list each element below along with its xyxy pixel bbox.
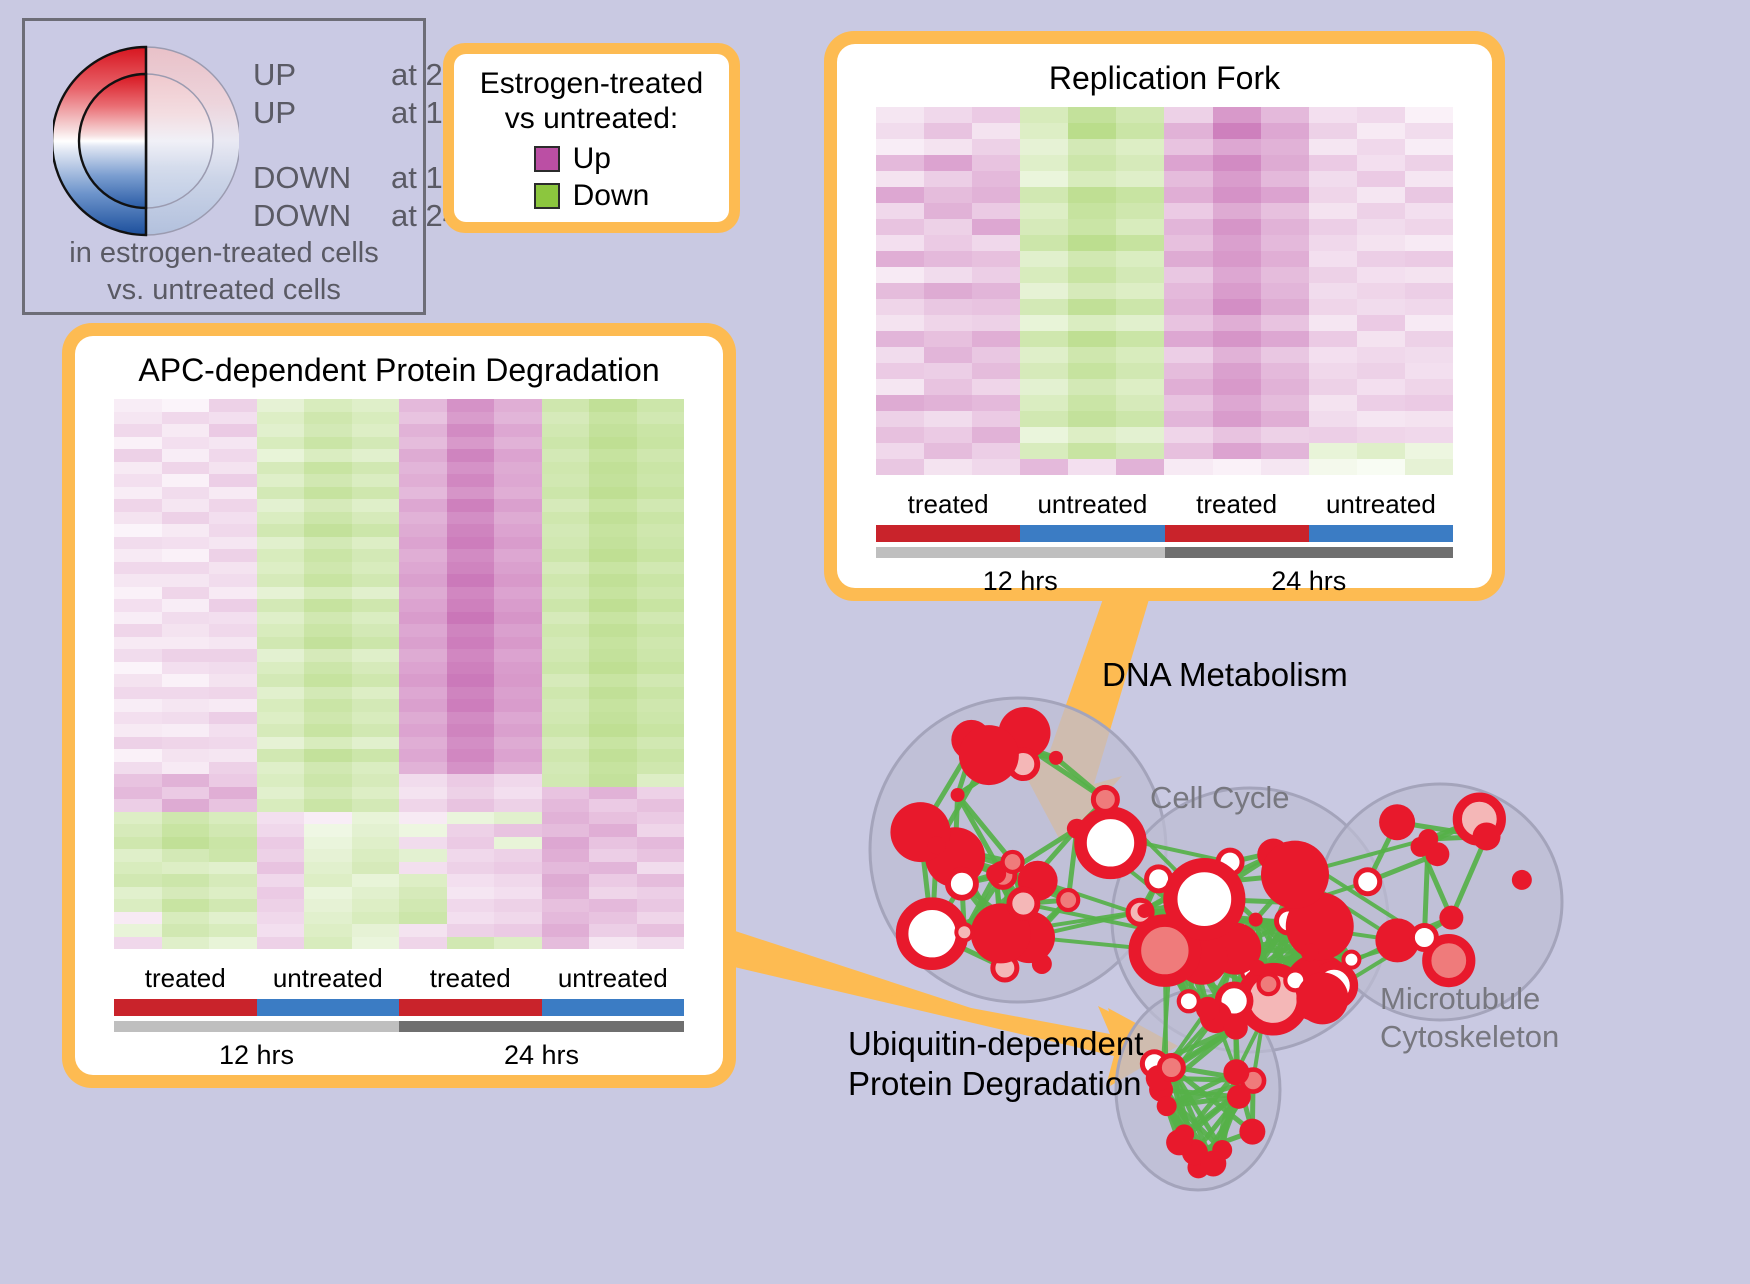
heatmap-cell [494, 824, 542, 837]
apc-bar-untreated-12 [257, 999, 400, 1016]
heatmap-cell [1213, 187, 1261, 203]
heatmap-cell [924, 107, 972, 123]
heatmap-cell [209, 449, 257, 462]
heatmap-cell [972, 315, 1020, 331]
heatmap-cell [1116, 267, 1164, 283]
heatmap-cell [162, 649, 210, 662]
heatmap-cell [447, 712, 495, 725]
heatmap-cell [1020, 395, 1068, 411]
heatmap-cell [352, 837, 400, 850]
heatmap-cell [1213, 139, 1261, 155]
heatmap-cell [399, 787, 447, 800]
heatmap-cell [447, 462, 495, 475]
legend-header-line1: Estrogen-treated [480, 66, 703, 101]
heatmap-cell [352, 774, 400, 787]
heatmap-cell [1261, 363, 1309, 379]
heatmap-cell [162, 424, 210, 437]
network-node [1093, 787, 1117, 811]
heatmap-cell [257, 612, 305, 625]
heatmap-cell [114, 474, 162, 487]
heatmap-cell [304, 824, 352, 837]
heatmap-cell [114, 724, 162, 737]
heatmap-cell [114, 662, 162, 675]
heatmap-cell [494, 649, 542, 662]
heatmap-cell [1261, 123, 1309, 139]
heatmap-cell [1357, 363, 1405, 379]
heatmap-cell [637, 549, 685, 562]
heatmap-cell [399, 624, 447, 637]
heatmap-cell [209, 824, 257, 837]
rf-time-0: 12 hrs [876, 566, 1165, 597]
heatmap-cell [162, 824, 210, 837]
heatmap-cell [1405, 187, 1453, 203]
panel-apc-degradation: APC-dependent Protein Degradation treate… [62, 323, 736, 1088]
heatmap-cell [1116, 315, 1164, 331]
heatmap-cell [1357, 123, 1405, 139]
heatmap-cell [589, 874, 637, 887]
heatmap-cell [1068, 315, 1116, 331]
heatmap-apc-degradation [114, 399, 684, 949]
network-node [1049, 751, 1063, 765]
heatmap-cell [1405, 395, 1453, 411]
heatmap-cell [1164, 251, 1212, 267]
heatmap-cell [162, 499, 210, 512]
heatmap-cell [352, 787, 400, 800]
heatmap-cell [1357, 459, 1405, 475]
heatmap-cell [399, 687, 447, 700]
mt-line2: Cytoskeleton [1380, 1018, 1559, 1056]
heatmap-cell [162, 474, 210, 487]
heatmap-cell [1405, 171, 1453, 187]
heatmap-cell [162, 512, 210, 525]
heatmap-cell [1116, 411, 1164, 427]
heatmap-cell [494, 687, 542, 700]
heatmap-cell [352, 649, 400, 662]
heatmap-cell [304, 799, 352, 812]
heatmap-cell [972, 299, 1020, 315]
legend-item-down: Down [534, 177, 650, 214]
heatmap-cell [924, 395, 972, 411]
heatmap-cell [924, 171, 972, 187]
heatmap-cell [352, 874, 400, 887]
heatmap-cell [542, 562, 590, 575]
heatmap-cell [1020, 411, 1068, 427]
heatmap-cell [352, 812, 400, 825]
heatmap-cell [494, 624, 542, 637]
heatmap-cell [304, 774, 352, 787]
heatmap-cell [399, 712, 447, 725]
heatmap-cell [304, 687, 352, 700]
heatmap-cell [257, 762, 305, 775]
heatmap-cell [924, 315, 972, 331]
heatmap-cell [1357, 331, 1405, 347]
heatmap-cell [1261, 443, 1309, 459]
heatmap-cell [972, 411, 1020, 427]
up-down-color-wheel [53, 43, 239, 239]
heatmap-cell [1164, 459, 1212, 475]
heatmap-cell [542, 774, 590, 787]
heatmap-cell [1020, 283, 1068, 299]
heatmap-cell [209, 499, 257, 512]
heatmap-cell [542, 937, 590, 950]
heatmap-cell [352, 912, 400, 925]
heatmap-cell [209, 837, 257, 850]
heatmap-cell [637, 512, 685, 525]
rf-time-labels: 12 hrs 24 hrs [876, 566, 1453, 597]
heatmap-cell [924, 219, 972, 235]
network-node [1157, 1096, 1177, 1116]
legend-header-line2: vs untreated: [480, 101, 703, 136]
heatmap-cell [447, 487, 495, 500]
heatmap-cell [447, 524, 495, 537]
heatmap-cell [542, 674, 590, 687]
heatmap-cell [447, 637, 495, 650]
heatmap-cell [304, 649, 352, 662]
heatmap-cell [924, 443, 972, 459]
heatmap-cell [114, 549, 162, 562]
heatmap-cell [162, 899, 210, 912]
heatmap-cell [1116, 299, 1164, 315]
heatmap-cell [162, 937, 210, 950]
heatmap-replication-fork [876, 107, 1453, 475]
heatmap-cell [162, 787, 210, 800]
heatmap-cell [542, 599, 590, 612]
heatmap-cell [1357, 443, 1405, 459]
heatmap-cell [494, 612, 542, 625]
heatmap-cell [637, 599, 685, 612]
heatmap-cell [924, 203, 972, 219]
heatmap-cell [447, 474, 495, 487]
heatmap-cell [637, 887, 685, 900]
heatmap-cell [399, 749, 447, 762]
heatmap-cell [876, 171, 924, 187]
heatmap-cell [542, 874, 590, 887]
heatmap-cell [589, 862, 637, 875]
heatmap-cell [1261, 235, 1309, 251]
heatmap-cell [542, 462, 590, 475]
heatmap-cell [637, 699, 685, 712]
heatmap-cell [542, 699, 590, 712]
heatmap-cell [1261, 219, 1309, 235]
heatmap-cell [257, 487, 305, 500]
heatmap-cell [1357, 219, 1405, 235]
heatmap-cell [589, 399, 637, 412]
heatmap-cell [1357, 155, 1405, 171]
heatmap-cell [1213, 459, 1261, 475]
heatmap-cell [1068, 411, 1116, 427]
heatmap-cell [447, 674, 495, 687]
heatmap-cell [589, 837, 637, 850]
heatmap-cell [972, 331, 1020, 347]
heatmap-cell [1020, 171, 1068, 187]
heatmap-cell [494, 699, 542, 712]
heatmap-cell [494, 912, 542, 925]
heatmap-cell [637, 724, 685, 737]
heatmap-cell [399, 799, 447, 812]
heatmap-cell [1020, 219, 1068, 235]
heatmap-cell [114, 849, 162, 862]
heatmap-cell [494, 537, 542, 550]
heatmap-cell [589, 824, 637, 837]
heatmap-cell [209, 537, 257, 550]
heatmap-cell [1116, 107, 1164, 123]
heatmap-cell [1357, 283, 1405, 299]
heatmap-cell [352, 437, 400, 450]
heatmap-cell [494, 437, 542, 450]
heatmap-cell [589, 674, 637, 687]
heatmap-cell [162, 749, 210, 762]
heatmap-cell [304, 562, 352, 575]
heatmap-cell [1116, 187, 1164, 203]
heatmap-cell [162, 637, 210, 650]
heatmap-cell [209, 637, 257, 650]
heatmap-cell [1405, 107, 1453, 123]
heatmap-cell [304, 712, 352, 725]
heatmap-cell [1020, 187, 1068, 203]
heatmap-cell [1309, 139, 1357, 155]
heatmap-cell [1068, 347, 1116, 363]
heatmap-cell [447, 899, 495, 912]
heatmap-cell [1068, 123, 1116, 139]
heatmap-cell [1068, 219, 1116, 235]
heatmap-cell [1309, 267, 1357, 283]
heatmap-cell [1116, 427, 1164, 443]
heatmap-cell [1068, 427, 1116, 443]
heatmap-cell [542, 612, 590, 625]
heatmap-cell [1309, 123, 1357, 139]
heatmap-cell [876, 219, 924, 235]
heatmap-cell [257, 749, 305, 762]
heatmap-cell [399, 512, 447, 525]
heatmap-cell [1357, 107, 1405, 123]
color-key-legend: UP at 24 hrs UP at 12 hrs DOWN at 12 hrs… [22, 18, 426, 315]
heatmap-cell [637, 824, 685, 837]
heatmap-cell [1068, 395, 1116, 411]
heatmap-cell [637, 424, 685, 437]
apc-condition-colorbar [114, 999, 684, 1016]
heatmap-cell [114, 574, 162, 587]
heatmap-cell [637, 624, 685, 637]
heatmap-cell [494, 887, 542, 900]
heatmap-cell [352, 562, 400, 575]
apc-bar-treated-12 [114, 999, 257, 1016]
heatmap-cell [257, 449, 305, 462]
heatmap-cell [494, 449, 542, 462]
rf-bar-untreated-12 [1020, 525, 1164, 542]
key-row-3-label: DOWN [253, 198, 351, 234]
heatmap-cell [1261, 139, 1309, 155]
heatmap-cell [399, 449, 447, 462]
heatmap-cell [542, 549, 590, 562]
apc-time-1: 24 hrs [399, 1040, 684, 1071]
heatmap-cell [589, 537, 637, 550]
heatmap-cell [637, 662, 685, 675]
heatmap-cell [399, 537, 447, 550]
apc-time-0: 12 hrs [114, 1040, 399, 1071]
network-node [1227, 1085, 1251, 1109]
heatmap-cell [447, 799, 495, 812]
heatmap-cell [162, 399, 210, 412]
network-node [1179, 991, 1199, 1011]
heatmap-cell [876, 459, 924, 475]
heatmap-cell [542, 587, 590, 600]
heatmap-cell [162, 549, 210, 562]
rf-cond-1: untreated [1020, 489, 1164, 520]
heatmap-cell [494, 937, 542, 950]
heatmap-cell [162, 887, 210, 900]
heatmap-cell [876, 443, 924, 459]
heatmap-cell [494, 787, 542, 800]
heatmap-cell [1213, 331, 1261, 347]
heatmap-cell [1309, 235, 1357, 251]
heatmap-cell [1261, 459, 1309, 475]
heatmap-cell [114, 499, 162, 512]
heatmap-cell [972, 363, 1020, 379]
apc-bar-treated-24 [399, 999, 542, 1016]
heatmap-cell [304, 424, 352, 437]
network-node [1379, 804, 1415, 840]
heatmap-cell [304, 737, 352, 750]
heatmap-cell [494, 549, 542, 562]
heatmap-cell [352, 712, 400, 725]
heatmap-cell [114, 737, 162, 750]
heatmap-cell [209, 937, 257, 950]
heatmap-cell [304, 399, 352, 412]
heatmap-cell [257, 587, 305, 600]
heatmap-cell [637, 524, 685, 537]
heatmap-cell [209, 412, 257, 425]
heatmap-cell [494, 499, 542, 512]
heatmap-cell [257, 874, 305, 887]
heatmap-cell [257, 649, 305, 662]
color-key-footer-line1: in estrogen-treated cells [25, 235, 423, 272]
heatmap-cell [1405, 331, 1453, 347]
heatmap-cell [876, 235, 924, 251]
heatmap-cell [1164, 235, 1212, 251]
heatmap-cell [1213, 427, 1261, 443]
heatmap-cell [494, 849, 542, 862]
heatmap-cell [542, 887, 590, 900]
heatmap-cell [1405, 139, 1453, 155]
heatmap-cell [447, 699, 495, 712]
heatmap-cell [589, 499, 637, 512]
heatmap-cell [304, 762, 352, 775]
heatmap-cell [162, 449, 210, 462]
heatmap-cell [114, 412, 162, 425]
heatmap-cell [399, 937, 447, 950]
heatmap-cell [209, 787, 257, 800]
heatmap-cell [876, 363, 924, 379]
heatmap-cell [542, 512, 590, 525]
heatmap-cell [1309, 315, 1357, 331]
heatmap-cell [257, 399, 305, 412]
heatmap-cell [1164, 331, 1212, 347]
heatmap-cell [1405, 347, 1453, 363]
heatmap-cell [637, 937, 685, 950]
heatmap-cell [447, 499, 495, 512]
heatmap-cell [352, 662, 400, 675]
heatmap-cell [352, 499, 400, 512]
heatmap-cell [304, 912, 352, 925]
heatmap-cell [257, 837, 305, 850]
heatmap-cell [1164, 363, 1212, 379]
heatmap-cell [924, 379, 972, 395]
heatmap-cell [209, 587, 257, 600]
heatmap-cell [257, 937, 305, 950]
heatmap-cell [1164, 155, 1212, 171]
network-node [1159, 1056, 1183, 1080]
heatmap-cell [399, 724, 447, 737]
heatmap-cell [1405, 235, 1453, 251]
heatmap-cell [589, 687, 637, 700]
heatmap-cell [399, 674, 447, 687]
heatmap-cell [352, 937, 400, 950]
heatmap-cell [876, 379, 924, 395]
heatmap-cell [542, 712, 590, 725]
network-node [1170, 865, 1238, 933]
heatmap-cell [162, 724, 210, 737]
heatmap-cell [1020, 203, 1068, 219]
heatmap-cell [1116, 459, 1164, 475]
heatmap-cell [352, 699, 400, 712]
heatmap-cell [162, 624, 210, 637]
heatmap-cell [352, 599, 400, 612]
heatmap-cell [542, 624, 590, 637]
heatmap-cell [1020, 363, 1068, 379]
heatmap-cell [162, 674, 210, 687]
heatmap-cell [209, 674, 257, 687]
heatmap-cell [589, 649, 637, 662]
heatmap-cell [257, 799, 305, 812]
network-node [1009, 890, 1037, 918]
heatmap-cell [257, 737, 305, 750]
network-node [1137, 904, 1151, 918]
heatmap-cell [209, 712, 257, 725]
heatmap-cell [589, 424, 637, 437]
heatmap-cell [257, 674, 305, 687]
heatmap-cell [542, 687, 590, 700]
heatmap-cell [1357, 427, 1405, 443]
network-node [1439, 906, 1463, 930]
heatmap-cell [542, 724, 590, 737]
heatmap-cell [637, 874, 685, 887]
heatmap-cell [1164, 187, 1212, 203]
heatmap-cell [114, 599, 162, 612]
heatmap-cell [542, 924, 590, 937]
heatmap-cell [494, 399, 542, 412]
heatmap-cell [637, 837, 685, 850]
heatmap-cell [1261, 187, 1309, 203]
heatmap-cell [114, 437, 162, 450]
heatmap-cell [972, 187, 1020, 203]
heatmap-cell [1357, 315, 1405, 331]
heatmap-cell [304, 699, 352, 712]
heatmap-cell [399, 424, 447, 437]
heatmap-cell [637, 749, 685, 762]
heatmap-cell [447, 412, 495, 425]
heatmap-cell [876, 123, 924, 139]
heatmap-cell [399, 437, 447, 450]
heatmap-cell [1068, 187, 1116, 203]
heatmap-cell [399, 837, 447, 850]
heatmap-cell [1116, 155, 1164, 171]
heatmap-cell [114, 837, 162, 850]
heatmap-cell [1405, 363, 1453, 379]
color-key-footer-line2: vs. untreated cells [25, 272, 423, 309]
heatmap-cell [1261, 283, 1309, 299]
heatmap-cell [589, 474, 637, 487]
heatmap-cell [1213, 443, 1261, 459]
